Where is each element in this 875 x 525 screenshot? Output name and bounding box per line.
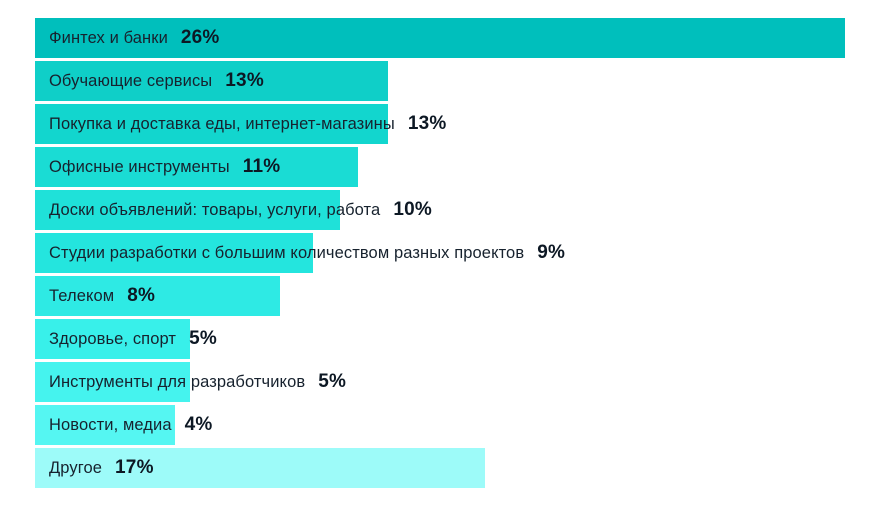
bar-row: Телеком8% [0,276,875,316]
bar-fill [35,104,388,144]
bar-row: Новости, медиа4% [0,405,875,445]
bar-value-label: 5% [318,371,346,393]
bar-row: Покупка и доставка еды, интернет-магазин… [0,104,875,144]
bar-fill [35,233,313,273]
bar-fill [35,319,190,359]
bar-row: Финтех и банки26% [0,18,875,58]
bar-fill [35,276,280,316]
bar-row: Здоровье, спорт5% [0,319,875,359]
bar-fill [35,18,845,58]
bar-fill [35,61,388,101]
bar-fill [35,362,190,402]
bar-row: Студии разработки с большим количеством … [0,233,875,273]
bar-fill [35,190,340,230]
bar-row: Другое17% [0,448,875,488]
bar-value-label: 5% [189,328,217,350]
bar-fill [35,147,358,187]
bar-value-label: 4% [185,414,213,436]
bar-row: Офисные инструменты11% [0,147,875,187]
bar-row: Доски объявлений: товары, услуги, работа… [0,190,875,230]
bar-fill [35,448,485,488]
bar-row: Инструменты для разработчиков5% [0,362,875,402]
bar-fill [35,405,175,445]
horizontal-bar-chart: Финтех и банки26%Обучающие сервисы13%Пок… [0,0,875,525]
bar-value-label: 10% [393,199,432,221]
bar-row: Обучающие сервисы13% [0,61,875,101]
bar-value-label: 9% [537,242,565,264]
bar-value-label: 13% [408,113,447,135]
bar-list: Финтех и банки26%Обучающие сервисы13%Пок… [0,18,875,491]
